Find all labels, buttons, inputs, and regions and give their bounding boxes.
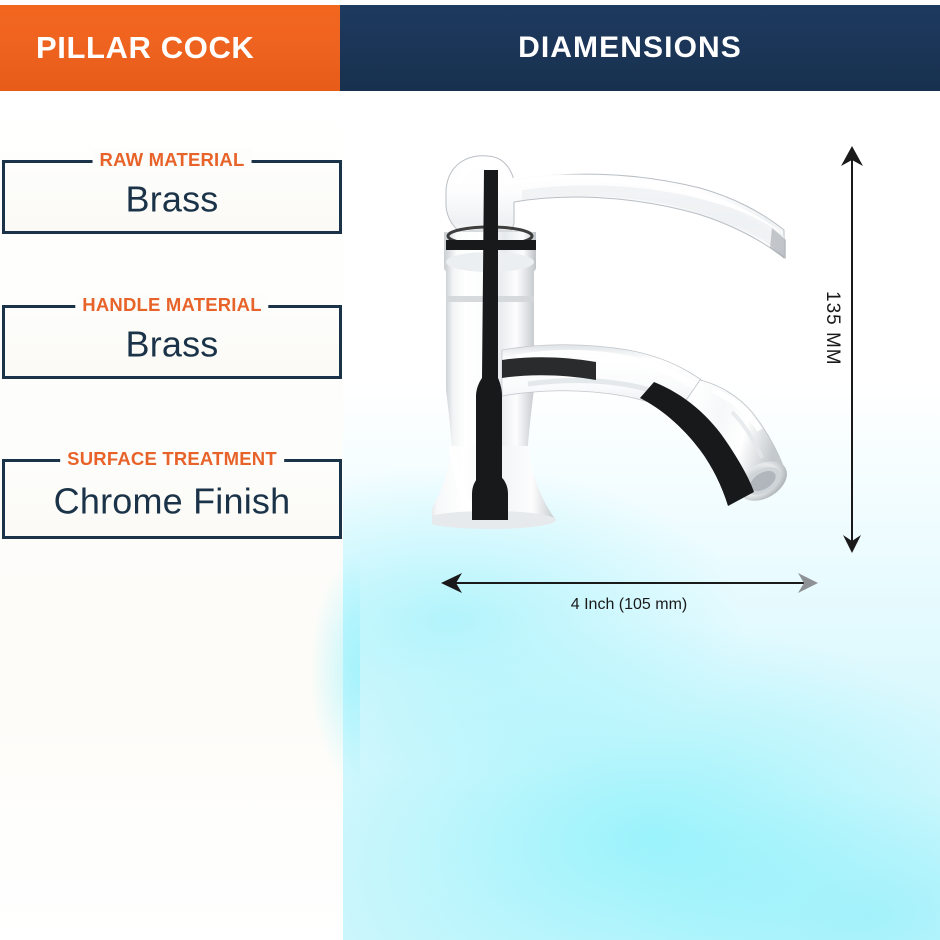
section-title: DIAMENSIONS — [518, 31, 742, 65]
width-dimension-arrow — [438, 570, 820, 598]
corner-decoration — [0, 600, 344, 940]
spec-label: RAW MATERIAL — [93, 149, 252, 171]
page-title: PILLAR COCK — [36, 30, 254, 66]
header-bar: PILLAR COCK DIAMENSIONS — [0, 5, 940, 91]
spec-label: SURFACE TREATMENT — [60, 448, 284, 470]
pillar-cock-faucet-image — [432, 128, 822, 573]
height-dimension-label: 135 MM — [821, 291, 843, 331]
width-dimension-label: 4 Inch (105 mm) — [438, 596, 820, 614]
header-product-banner: PILLAR COCK — [0, 5, 340, 91]
spec-box-raw-material: RAW MATERIAL Brass — [2, 160, 342, 234]
spec-label: HANDLE MATERIAL — [75, 294, 268, 316]
spec-box-handle-material: HANDLE MATERIAL Brass — [2, 305, 342, 379]
spec-value: Chrome Finish — [2, 481, 342, 523]
spec-value: Brass — [2, 179, 342, 221]
chrome-reflection-highlights — [446, 170, 754, 520]
header-section-banner: DIAMENSIONS — [340, 5, 940, 91]
infographic-canvas: PILLAR COCK DIAMENSIONS RAW MATERIAL Bra… — [0, 0, 940, 940]
spec-value: Brass — [2, 324, 342, 366]
spec-box-surface-treatment: SURFACE TREATMENT Chrome Finish — [2, 459, 342, 539]
